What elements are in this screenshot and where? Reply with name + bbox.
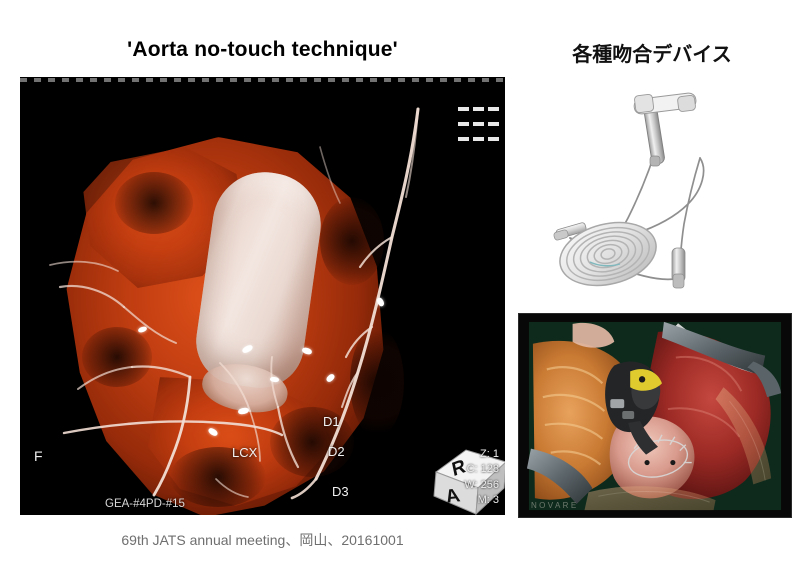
suture-dot xyxy=(670,460,675,465)
dicom-center-value: C: 128 xyxy=(464,462,499,478)
scale-dash xyxy=(458,137,469,141)
scale-dash xyxy=(488,122,499,126)
ct-annotation-d1: D1 xyxy=(323,414,340,429)
scale-row xyxy=(458,122,499,126)
scale-dash xyxy=(473,107,484,111)
scale-row xyxy=(458,107,499,111)
device-coil-element xyxy=(553,213,663,295)
dicom-width-value: W: 256 xyxy=(464,478,499,494)
photo-watermark: NOVARE xyxy=(531,501,579,510)
dicom-slice-value: Z: 1 xyxy=(464,447,499,463)
ct-orientation-marker-foot: F xyxy=(34,448,43,464)
anastomosis-device-photo xyxy=(512,78,792,306)
ct-annotation-lcx: LCX xyxy=(232,445,257,460)
ct-annotation-d3: D3 xyxy=(332,484,349,499)
scale-dash xyxy=(488,107,499,111)
scale-dash xyxy=(473,122,484,126)
suture-dot xyxy=(644,460,649,465)
scale-row xyxy=(458,137,499,141)
dicom-mode-value: M: 3 xyxy=(464,493,499,509)
dicom-overlay-readout: Z: 1 C: 128 W: 256 M: 3 xyxy=(464,447,499,509)
ct-scale-marks xyxy=(458,107,499,141)
footer-caption: 69th JATS annual meeting、岡山、20161001 xyxy=(20,530,505,550)
device-right-clamp xyxy=(672,248,685,288)
scale-dash xyxy=(473,137,484,141)
scale-dash xyxy=(458,122,469,126)
page-title: 'Aorta no-touch technique' xyxy=(20,38,505,62)
scale-dash xyxy=(488,137,499,141)
devices-section-title: 各種吻合デバイス xyxy=(512,38,792,67)
ct-annotation-gea-graft: GEA-#4PD-#15 xyxy=(105,498,185,510)
ct-annotation-d2: D2 xyxy=(328,444,345,459)
intraoperative-surgery-photo: NOVARE xyxy=(518,313,792,518)
ct-volume-rendering-panel: LCX D1 D2 D3 GEA-#4PD-#15 RCA RITA-LAD L… xyxy=(20,77,505,515)
device-shaft-and-handle xyxy=(633,92,696,166)
scale-dash xyxy=(458,107,469,111)
